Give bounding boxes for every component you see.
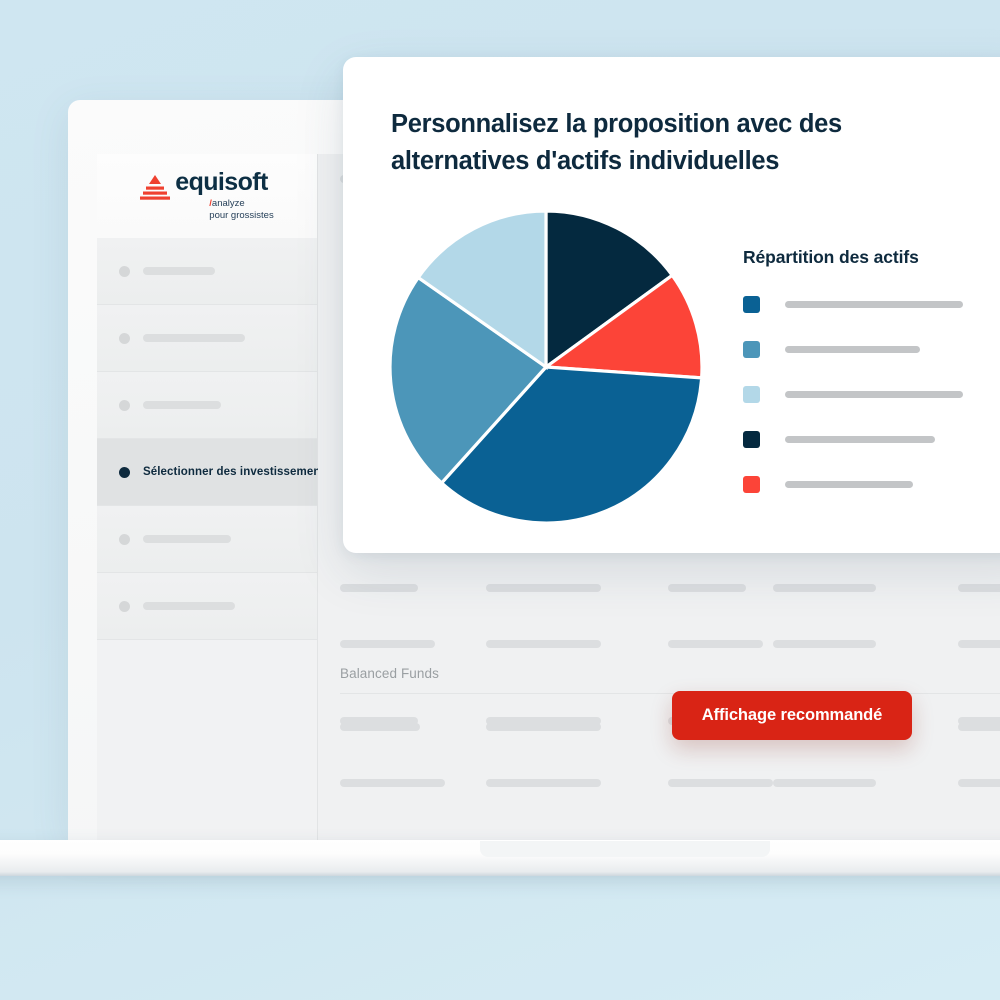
sidebar-item-1[interactable]	[97, 238, 317, 305]
laptop-trackpad-notch	[480, 841, 770, 857]
sidebar-item-placeholder	[143, 401, 221, 409]
legend-swatch-icon	[743, 341, 760, 358]
legend-label-placeholder	[785, 391, 963, 398]
table-row[interactable]	[318, 563, 1000, 613]
bullet-icon	[119, 266, 130, 277]
legend-label-placeholder	[785, 436, 935, 443]
sidebar-item-placeholder	[143, 535, 231, 543]
brand-name: equisoft	[175, 170, 273, 195]
legend-title: Répartition des actifs	[743, 247, 993, 268]
cell-placeholder	[340, 779, 445, 787]
brand-segment: pour grossistes	[209, 210, 273, 221]
legend-item[interactable]	[743, 339, 993, 359]
cell-placeholder	[340, 640, 435, 648]
red-pyramid-logo-icon	[140, 174, 170, 205]
bullet-icon	[119, 333, 130, 344]
legend-label-placeholder	[785, 481, 913, 488]
bullet-icon	[119, 534, 130, 545]
sidebar-item-placeholder	[143, 334, 245, 342]
legend-item[interactable]	[743, 294, 993, 314]
sidebar-empty-area	[97, 640, 317, 840]
sidebar: equisoft /analyze pour grossistes	[97, 154, 318, 840]
brand-product: analyze	[212, 198, 245, 209]
sidebar-item-6[interactable]	[97, 573, 317, 640]
legend-item[interactable]	[743, 384, 993, 404]
cell-placeholder	[958, 640, 1000, 648]
cell-placeholder	[486, 584, 601, 592]
cell-placeholder	[958, 584, 1000, 592]
sidebar-item-2[interactable]	[97, 305, 317, 372]
cell-placeholder	[773, 640, 876, 648]
legend-swatch-icon	[743, 296, 760, 313]
cell-placeholder	[486, 723, 601, 731]
cell-placeholder	[958, 723, 1000, 731]
cell-placeholder	[668, 779, 773, 787]
chart-legend: Répartition des actifs	[743, 247, 993, 519]
cell-placeholder	[773, 584, 876, 592]
promo-scene: equisoft /analyze pour grossistes	[0, 0, 1000, 1000]
modal-title: Personnalisez la proposition avec des al…	[391, 106, 911, 180]
cell-placeholder	[486, 779, 601, 787]
legend-label-placeholder	[785, 346, 920, 353]
sidebar-item-label: Sélectionner des investissements	[143, 466, 331, 478]
cell-placeholder	[486, 640, 601, 648]
cell-placeholder	[668, 640, 763, 648]
sidebar-item-3[interactable]	[97, 372, 317, 439]
legend-swatch-icon	[743, 476, 760, 493]
table-row[interactable]	[318, 619, 1000, 669]
bullet-icon	[119, 601, 130, 612]
bullet-icon	[119, 467, 130, 478]
brand-tagline: /analyze pour grossistes	[175, 198, 273, 222]
legend-label-placeholder	[785, 301, 963, 308]
sidebar-item-5[interactable]	[97, 506, 317, 573]
sidebar-item-selectionner-des-investissements[interactable]: Sélectionner des investissements	[97, 439, 317, 506]
cell-placeholder	[773, 779, 876, 787]
proposal-modal-card: Personnalisez la proposition avec des al…	[343, 57, 1000, 553]
sidebar-item-placeholder	[143, 267, 215, 275]
legend-swatch-icon	[743, 386, 760, 403]
legend-rows	[743, 294, 993, 494]
brand-logo[interactable]: equisoft /analyze pour grossistes	[97, 154, 317, 238]
legend-swatch-icon	[743, 431, 760, 448]
bullet-icon	[119, 400, 130, 411]
cell-placeholder	[340, 723, 420, 731]
cell-placeholder	[340, 584, 418, 592]
sidebar-item-placeholder	[143, 602, 235, 610]
cell-placeholder	[958, 779, 1000, 787]
asset-allocation-pie-chart	[386, 207, 706, 532]
section-label-balanced-funds: Balanced Funds	[340, 666, 439, 681]
legend-item[interactable]	[743, 474, 993, 494]
pie-svg	[386, 207, 706, 527]
table-row[interactable]	[318, 758, 1000, 808]
affichage-recommande-button[interactable]: Affichage recommandé	[672, 691, 912, 740]
legend-item[interactable]	[743, 429, 993, 449]
cell-placeholder	[668, 584, 746, 592]
